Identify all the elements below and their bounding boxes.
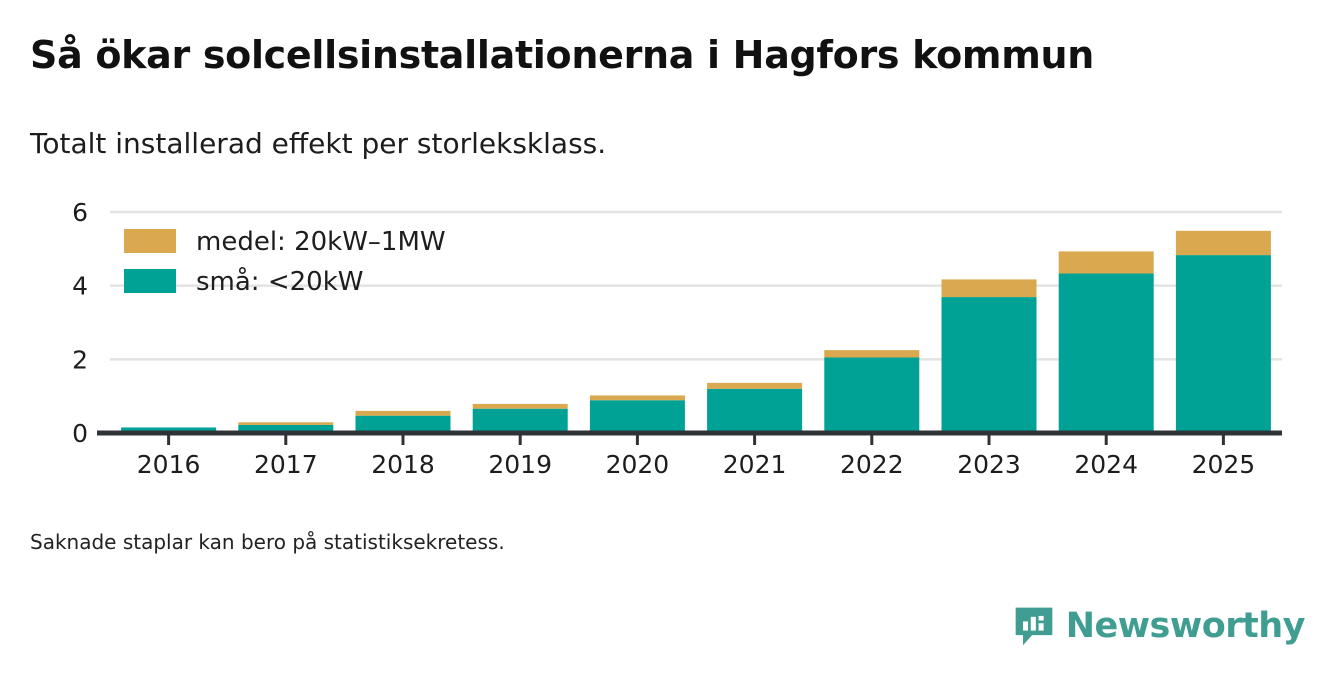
page-title: Så ökar solcellsinstallationerna i Hagfo…	[30, 33, 1094, 77]
bar-segment-small	[1176, 255, 1271, 433]
chart-container: 0246 20162017201820192020202120222023202…	[0, 185, 1340, 495]
bar-segment-small	[356, 416, 451, 433]
legend-swatch[interactable]	[124, 269, 176, 293]
chart-x-axis	[97, 433, 1282, 445]
bar-segment-medium	[707, 383, 802, 389]
page-subtitle: Totalt installerad effekt per storlekskl…	[30, 127, 606, 160]
newsworthy-logo[interactable]: Newsworthy	[1012, 604, 1305, 648]
x-tick-label: 2022	[840, 450, 904, 479]
y-tick-label: 2	[72, 345, 88, 374]
bar-chart-speech-bubble-icon	[1012, 604, 1056, 648]
bar-segment-small	[707, 389, 802, 433]
bar-segment-medium	[238, 422, 333, 425]
legend-label[interactable]: små: <20kW	[196, 266, 363, 297]
x-tick-label: 2024	[1074, 450, 1138, 479]
x-tick-label: 2019	[488, 450, 552, 479]
chart-page: Så ökar solcellsinstallationerna i Hagfo…	[0, 0, 1340, 685]
stacked-bar-chart: 0246 20162017201820192020202120222023202…	[0, 185, 1340, 495]
x-tick-label: 2017	[254, 450, 318, 479]
y-tick-label: 4	[72, 272, 88, 301]
bar-segment-medium	[1059, 251, 1154, 273]
bar-segment-small	[590, 400, 685, 433]
x-tick-label: 2023	[957, 450, 1021, 479]
x-tick-label: 2025	[1192, 450, 1256, 479]
chart-x-tick-labels: 2016201720182019202020212022202320242025	[137, 450, 1255, 479]
chart-y-tick-labels: 0246	[72, 198, 88, 448]
bar-segment-medium	[1176, 231, 1271, 255]
x-tick-label: 2018	[371, 450, 435, 479]
legend-label[interactable]: medel: 20kW–1MW	[196, 227, 446, 257]
bar-segment-medium	[824, 350, 919, 357]
bar-segment-medium	[356, 411, 451, 416]
chart-bars	[121, 231, 1271, 433]
x-tick-label: 2020	[606, 450, 670, 479]
bar-segment-small	[942, 297, 1037, 433]
bar-segment-small	[1059, 274, 1154, 433]
bar-segment-small	[473, 409, 568, 433]
bar-segment-medium	[590, 395, 685, 400]
bar-segment-small	[824, 357, 919, 433]
bar-segment-medium	[942, 279, 1037, 297]
x-tick-label: 2016	[137, 450, 201, 479]
bar-segment-medium	[473, 404, 568, 409]
y-tick-label: 6	[72, 198, 88, 227]
y-tick-label: 0	[72, 419, 88, 448]
brand-name: Newsworthy	[1066, 609, 1305, 644]
x-tick-label: 2021	[723, 450, 787, 479]
legend-swatch[interactable]	[124, 229, 176, 253]
chart-footnote: Saknade staplar kan bero på statistiksek…	[30, 530, 505, 554]
